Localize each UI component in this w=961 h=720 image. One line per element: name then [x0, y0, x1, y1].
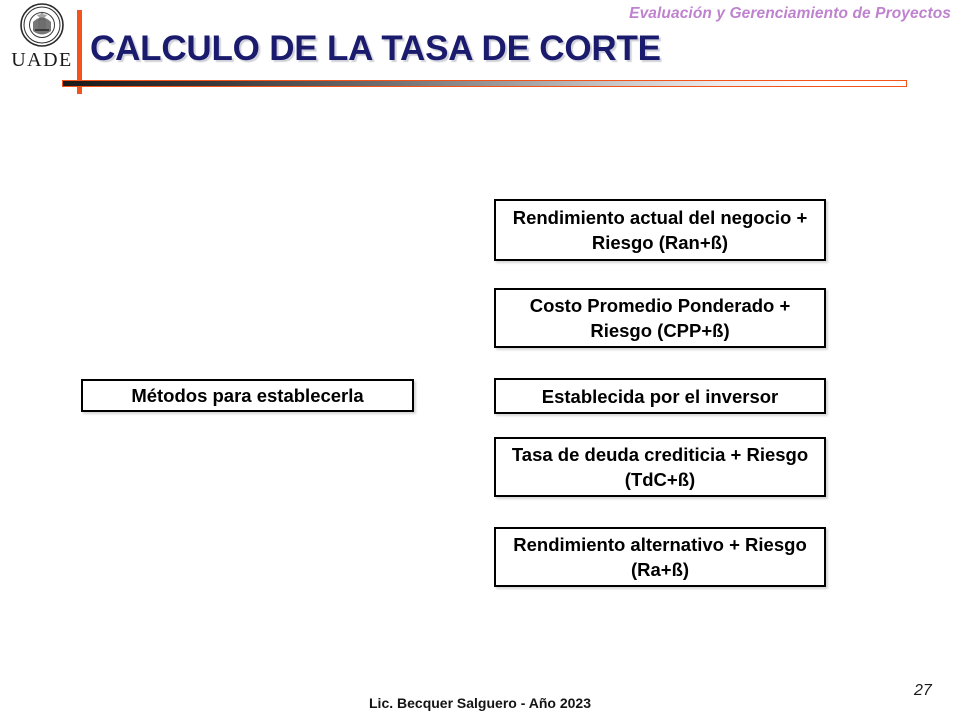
method-box-cpp: Costo Promedio Ponderado + Riesgo (CPP+ß…	[494, 288, 826, 348]
method-box-ran: Rendimiento actual del negocio + Riesgo …	[494, 199, 826, 261]
methods-diagram: Métodos para establecerla Rendimiento ac…	[0, 0, 961, 720]
method-box-inversor: Establecida por el inversor	[494, 378, 826, 414]
footer-credit: Lic. Becquer Salguero - Año 2023	[369, 695, 591, 711]
methods-category-box: Métodos para establecerla	[81, 379, 414, 412]
slide-footer: Lic. Becquer Salguero - Año 2023 27	[0, 695, 961, 720]
slide-number: 27	[914, 682, 932, 700]
method-box-tdc: Tasa de deuda crediticia + Riesgo (TdC+ß…	[494, 437, 826, 497]
method-box-ra: Rendimiento alternativo + Riesgo (Ra+ß)	[494, 527, 826, 587]
